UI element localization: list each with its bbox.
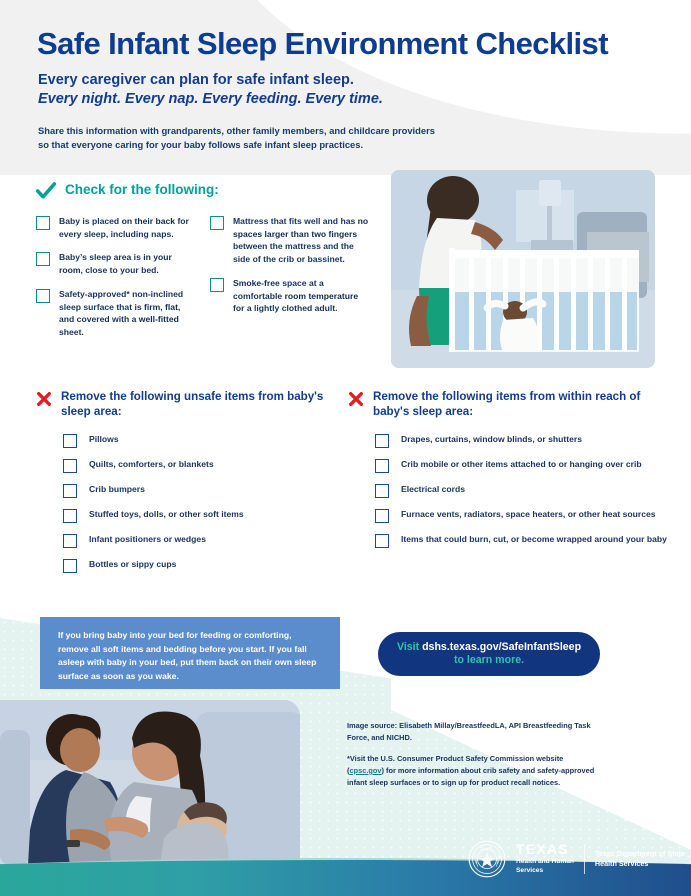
footnote-part-2: ) for more information about crib safety… [347, 766, 594, 787]
share-line-1: Share this information with grandparents… [38, 125, 435, 136]
crib-photo-illustration [391, 170, 655, 368]
check-section-header: Check for the following: [36, 182, 376, 201]
check-item-label: Safety-approved* non-inclined sleep surf… [59, 288, 196, 339]
remove-item-label: Bottles or sippy cups [89, 558, 176, 570]
check-column-right: Mattress that fits well and has no space… [210, 215, 370, 350]
checkbox[interactable] [375, 459, 389, 473]
remove-list-item[interactable]: Furnace vents, radiators, space heaters,… [375, 508, 668, 523]
remove-list-item[interactable]: Electrical cords [375, 483, 668, 498]
check-item-label: Baby’s sleep area is in your room, close… [59, 251, 196, 276]
remove-item-label: Electrical cords [401, 483, 465, 495]
check-mark-icon [36, 181, 56, 201]
page-header: Safe Infant Sleep Environment Checklist … [0, 0, 691, 152]
logo-divider [584, 844, 585, 874]
family-photo-illustration [0, 700, 300, 865]
check-section-heading: Check for the following: [65, 182, 219, 198]
texas-state-seal-icon [468, 840, 506, 878]
texas-hhs-wordmark: TEXAS Health and Human Services [516, 842, 574, 876]
check-item-label: Smoke-free space at a comfortable room t… [233, 277, 370, 315]
checkbox[interactable] [375, 534, 389, 548]
remove-item-label: Crib mobile or other items attached to o… [401, 458, 642, 470]
share-line-2: so that everyone caring for your baby fo… [38, 139, 363, 150]
check-item-label: Baby is placed on their back for every s… [59, 215, 196, 240]
check-section: Check for the following: Baby is placed … [36, 182, 376, 350]
remove-item-label: Drapes, curtains, window blinds, or shut… [401, 433, 582, 445]
hhs-line-2: Services [516, 867, 543, 874]
remove-list-item[interactable]: Pillows [63, 433, 336, 448]
crib-photo [391, 170, 655, 368]
image-source-note: Image source: Elisabeth Millay/Breastfee… [347, 720, 602, 744]
remove-reach-list: Drapes, curtains, window blinds, or shut… [348, 433, 668, 548]
checkbox[interactable] [36, 216, 50, 230]
checkbox[interactable] [63, 434, 77, 448]
page-title: Safe Infant Sleep Environment Checklist [0, 0, 691, 61]
checkbox[interactable] [210, 278, 224, 292]
check-column-left: Baby is placed on their back for every s… [36, 215, 196, 350]
x-mark-icon [348, 391, 364, 407]
remove-list-item[interactable]: Crib mobile or other items attached to o… [375, 458, 668, 473]
checkbox[interactable] [210, 216, 224, 230]
remove-list-item[interactable]: Drapes, curtains, window blinds, or shut… [375, 433, 668, 448]
remove-list-item[interactable]: Stuffed toys, dolls, or other soft items [63, 508, 336, 523]
remove-reach-heading: Remove the following items from within r… [373, 390, 668, 420]
checkbox[interactable] [63, 459, 77, 473]
visit-website-button[interactable]: Visit dshs.texas.gov/SafeInfantSleep to … [378, 632, 600, 676]
image-source-label: Image source: [347, 721, 397, 730]
x-mark-icon [36, 391, 52, 407]
check-item-label: Mattress that fits well and has no space… [233, 215, 370, 266]
family-photo [0, 700, 300, 865]
hhs-label: Health and Human Services [516, 858, 574, 876]
visit-prefix: Visit [397, 641, 422, 653]
remove-list-item[interactable]: Quilts, comforters, or blankets [63, 458, 336, 473]
checkbox[interactable] [375, 434, 389, 448]
remove-unsafe-list: Pillows Quilts, comforters, or blankets … [36, 433, 336, 573]
footnotes: Image source: Elisabeth Millay/Breastfee… [347, 720, 602, 789]
texas-label: TEXAS [516, 842, 574, 856]
remove-list-item[interactable]: Crib bumpers [63, 483, 336, 498]
dshs-wordmark: Texas Department of State Health Service… [595, 849, 685, 869]
remove-item-label: Infant positioners or wedges [89, 533, 206, 545]
dshs-line-2: Health Services [595, 859, 649, 868]
checkbox[interactable] [63, 534, 77, 548]
check-list-item[interactable]: Baby’s sleep area is in your room, close… [36, 251, 196, 276]
remove-item-label: Stuffed toys, dolls, or other soft items [89, 508, 244, 520]
remove-item-label: Quilts, comforters, or blankets [89, 458, 214, 470]
checkbox[interactable] [36, 252, 50, 266]
dshs-line-1: Texas Department of State [595, 849, 685, 858]
wave-bottom-fill [0, 886, 691, 896]
cpsc-footnote: *Visit the U.S. Consumer Product Safety … [347, 753, 602, 789]
remove-item-label: Crib bumpers [89, 483, 145, 495]
remove-unsafe-section: Remove the following unsafe items from b… [36, 390, 336, 583]
checkbox[interactable] [36, 289, 50, 303]
remove-item-label: Items that could burn, cut, or become wr… [401, 533, 667, 545]
check-list-item[interactable]: Safety-approved* non-inclined sleep surf… [36, 288, 196, 339]
visit-button-line-2: to learn more. [454, 654, 524, 667]
hhs-line-1: Health and Human [516, 858, 574, 865]
check-list-item[interactable]: Baby is placed on their back for every s… [36, 215, 196, 240]
checkbox[interactable] [375, 509, 389, 523]
remove-item-label: Furnace vents, radiators, space heaters,… [401, 508, 656, 520]
check-list-item[interactable]: Smoke-free space at a comfortable room t… [210, 277, 370, 315]
check-list-item[interactable]: Mattress that fits well and has no space… [210, 215, 370, 266]
remove-list-item[interactable]: Items that could burn, cut, or become wr… [375, 533, 668, 548]
remove-item-label: Pillows [89, 433, 119, 445]
bed-sharing-callout: If you bring baby into your bed for feed… [40, 617, 340, 689]
remove-list-item[interactable]: Infant positioners or wedges [63, 533, 336, 548]
callout-text: If you bring baby into your bed for feed… [58, 629, 324, 683]
remove-list-item[interactable]: Bottles or sippy cups [63, 558, 336, 573]
checkbox[interactable] [63, 509, 77, 523]
remove-reach-header: Remove the following items from within r… [348, 390, 668, 420]
visit-button-line-1: Visit dshs.texas.gov/SafeInfantSleep [397, 641, 581, 654]
page-subtitle-primary: Every caregiver can plan for safe infant… [0, 61, 691, 88]
share-instruction: Share this information with grandparents… [0, 107, 691, 152]
checkbox[interactable] [63, 484, 77, 498]
remove-unsafe-heading: Remove the following unsafe items from b… [61, 390, 336, 420]
visit-url: dshs.texas.gov/SafeInfantSleep [422, 641, 581, 653]
remove-reach-section: Remove the following items from within r… [348, 390, 668, 558]
checkbox[interactable] [375, 484, 389, 498]
remove-unsafe-header: Remove the following unsafe items from b… [36, 390, 336, 420]
page-subtitle-secondary: Every night. Every nap. Every feeding. E… [0, 88, 691, 107]
checkbox[interactable] [63, 559, 77, 573]
cpsc-link[interactable]: cpsc.gov [349, 766, 381, 775]
texas-hhs-logo: TEXAS Health and Human Services Texas De… [468, 840, 685, 878]
